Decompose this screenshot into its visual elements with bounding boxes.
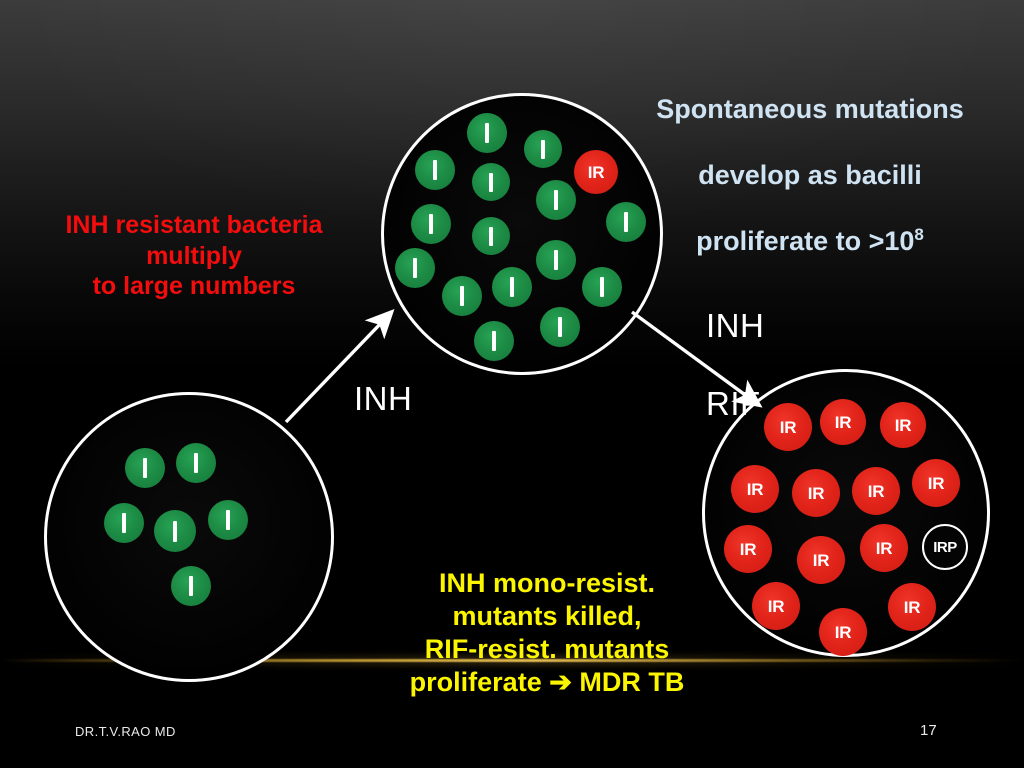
- bacterium-susceptible: [395, 248, 435, 288]
- bacterium-glyph-icon: [226, 510, 230, 530]
- bacterium-ir: IR: [888, 583, 936, 631]
- label-arrow-inh-rif-line1: INH: [706, 307, 764, 344]
- bacterium-glyph-icon: [541, 140, 545, 159]
- bacterium-susceptible: [474, 321, 514, 361]
- bacterium-ir: IR: [819, 608, 867, 656]
- slide-canvas: IRIRIRIRIRIRIRIRIRIRIRIRPIRIRIR Spontane…: [0, 0, 1024, 768]
- caption-spontaneous-line3: proliferate to >10: [696, 226, 914, 256]
- bacterium-ir: IR: [724, 525, 772, 573]
- bacterium-susceptible: [536, 180, 576, 220]
- bacterium-label: IR: [747, 481, 763, 498]
- label-arrow-inh-rif: INH RIF: [706, 268, 764, 424]
- bacterium-label: IR: [876, 540, 892, 557]
- bacterium-susceptible: [467, 113, 507, 153]
- caption-spontaneous-exponent: 8: [914, 225, 923, 244]
- bacterium-glyph-icon: [558, 317, 562, 337]
- bacterium-label: IR: [904, 599, 920, 616]
- bacterium-label: IR: [895, 417, 911, 434]
- caption-inh-resistant-bacteria: INH resistant bacteria multiply to large…: [22, 210, 366, 302]
- bacterium-susceptible: [472, 217, 510, 255]
- caption-spontaneous-line2: develop as bacilli: [698, 160, 922, 190]
- bacterium-susceptible: [208, 500, 248, 540]
- bacterium-label: IR: [780, 419, 796, 436]
- label-arrow-inh: INH: [354, 379, 412, 419]
- bacterium-irp: IRP: [922, 524, 968, 570]
- bacterium-susceptible: [104, 503, 144, 543]
- bacterium-label: IR: [813, 552, 829, 569]
- bacterium-glyph-icon: [600, 277, 604, 297]
- bacterium-ir: IR: [860, 524, 908, 572]
- bacterium-glyph-icon: [510, 277, 514, 297]
- bacterium-ir: IR: [731, 465, 779, 513]
- bacterium-glyph-icon: [413, 258, 417, 278]
- bacterium-susceptible: [472, 163, 510, 201]
- bacterium-glyph-icon: [122, 513, 126, 533]
- bacterium-susceptible: [171, 566, 211, 606]
- caption-spontaneous-mutations: Spontaneous mutations develop as bacilli…: [612, 60, 1008, 258]
- bacterium-glyph-icon: [492, 331, 496, 351]
- bacterium-label: IRP: [933, 540, 957, 555]
- label-arrow-inh-rif-line2: RIF: [706, 385, 761, 422]
- bacterium-susceptible: [176, 443, 216, 483]
- footer-author-credit: DR.T.V.RAO MD: [75, 724, 176, 740]
- footer-page-number: 17: [920, 722, 937, 740]
- bacterium-glyph-icon: [489, 173, 493, 192]
- bacterium-susceptible: [582, 267, 622, 307]
- bacterium-glyph-icon: [485, 123, 489, 143]
- bacterium-label: IR: [588, 164, 604, 181]
- bacterium-susceptible: [524, 130, 562, 168]
- bacterium-ir: IR: [797, 536, 845, 584]
- bacterium-ir: IR: [852, 467, 900, 515]
- bacterium-ir: IR: [792, 469, 840, 517]
- bacterium-ir: IR: [764, 403, 812, 451]
- bacterium-ir: IR: [880, 402, 926, 448]
- bacterium-glyph-icon: [143, 458, 147, 478]
- bacterium-glyph-icon: [554, 190, 558, 210]
- bacterium-glyph-icon: [429, 214, 433, 234]
- bacterium-label: IR: [835, 414, 851, 431]
- bacterium-label: IR: [928, 475, 944, 492]
- bacterium-label: IR: [808, 485, 824, 502]
- bacterium-ir: IR: [820, 399, 866, 445]
- bacterium-ir: IR: [912, 459, 960, 507]
- bacterium-susceptible: [536, 240, 576, 280]
- bacterium-susceptible: [492, 267, 532, 307]
- bacterium-glyph-icon: [460, 286, 464, 306]
- bacterium-glyph-icon: [189, 576, 193, 596]
- caption-mdr-tb: INH mono-resist. mutants killed, RIF-res…: [352, 567, 742, 699]
- bacterium-susceptible: [442, 276, 482, 316]
- bacterium-susceptible: [125, 448, 165, 488]
- bacterium-glyph-icon: [433, 160, 437, 180]
- bacterium-glyph-icon: [173, 521, 177, 542]
- bacterium-glyph-icon: [194, 453, 198, 473]
- caption-spontaneous-line1: Spontaneous mutations: [656, 94, 964, 124]
- bacterium-label: IR: [835, 624, 851, 641]
- bacterium-susceptible: [411, 204, 451, 244]
- bacterium-label: IR: [868, 483, 884, 500]
- bacterium-susceptible: [540, 307, 580, 347]
- bacterium-glyph-icon: [554, 250, 558, 270]
- bacterium-label: IR: [768, 598, 784, 615]
- bacterium-label: IR: [740, 541, 756, 558]
- bacterium-susceptible: [154, 510, 196, 552]
- bacterium-glyph-icon: [489, 227, 493, 246]
- bacterium-ir: IR: [752, 582, 800, 630]
- bacterium-susceptible: [415, 150, 455, 190]
